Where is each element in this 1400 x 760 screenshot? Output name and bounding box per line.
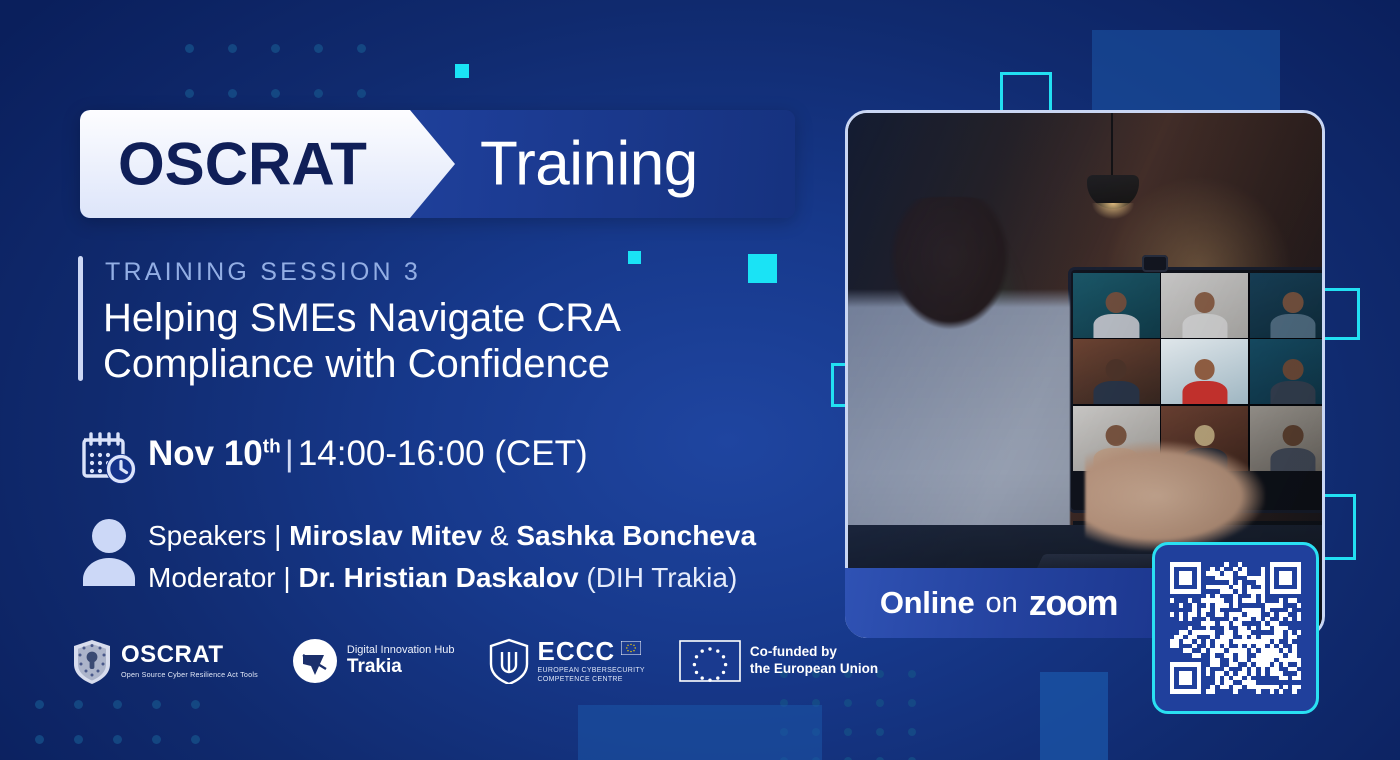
participant-tile [1161,273,1248,338]
person-icon [78,514,140,586]
calendar-clock-icon [78,428,140,486]
dih-trakia-logo: Digital Innovation Hub Trakia [292,638,455,684]
oscrat-logo-name: OSCRAT [121,643,258,667]
qr-code[interactable] [1170,562,1302,694]
header-title: Training [480,129,698,200]
header-lockup: OSCRAT Training [80,110,795,218]
oscrat-logo-tagline: Open Source Cyber Resilience Act Tools [121,670,258,679]
online-on-zoom-bar: Online on zoom [845,568,1152,638]
moderator-label: Moderator [148,562,276,593]
participant-tile [1250,339,1322,404]
decor-bracket-right [1324,288,1360,340]
participant-tile [1073,273,1160,338]
dot-grid-bottom-left [35,700,200,744]
eccc-logo: ECCC EUROPEAN CYBERSECURITY COMPETENCE C… [489,638,645,685]
session-title-line-2: Compliance with Confidence [103,341,743,387]
session-title-line-1: Helping SMEs Navigate CRA [103,295,743,341]
dih-trakia-logo-text: Digital Innovation Hub Trakia [347,644,455,678]
shield-icon [72,638,112,684]
speakers-separator: | [274,520,281,551]
dih-logo-line-2: Trakia [347,656,455,678]
title-accent-bar [78,256,83,381]
speakers-label: Speakers [148,520,266,551]
eccc-logo-text: ECCC EUROPEAN CYBERSECURITY COMPETENCE C… [538,638,645,685]
decor-block-bottom-center [578,705,822,760]
qr-code-card[interactable] [1152,542,1319,714]
session-eyebrow: TRAINING SESSION 3 [105,258,421,287]
header-logo-text: OSCRAT [118,130,367,199]
eu-flag-large-icon [679,640,741,682]
zoom-wordmark: zoom [1029,582,1117,624]
speaker-name-1: Miroslav Mitev [289,520,482,551]
eu-cofunded-line-2: the European Union [750,661,878,678]
oscrat-logo-text: OSCRAT Open Source Cyber Resilience Act … [121,643,258,679]
oscrat-logo: OSCRAT Open Source Cyber Resilience Act … [72,638,258,684]
decor-block-bottom-right [1040,672,1108,760]
moderator-org: (DIH Trakia) [586,562,737,593]
participant-tile [1073,339,1160,404]
participant-tile [1250,273,1322,338]
event-date: Nov 10 [148,434,263,473]
dih-logo-line-1: Digital Innovation Hub [347,644,455,657]
speakers-conjunction: & [490,520,509,551]
event-time: 14:00-16:00 (CET) [298,434,588,473]
eu-cofunded-text: Co-funded by the European Union [750,644,878,678]
page-title: Helping SMEs Navigate CRA Compliance wit… [103,295,743,387]
eu-flag-icon [621,641,641,655]
decor-square-tiny [628,251,641,264]
eccc-logo-sub-2: COMPETENCE CENTRE [538,676,645,685]
lamp-cord [1111,113,1113,179]
webcam-icon [1142,255,1168,272]
on-label: on [986,587,1018,620]
people-block: Speakers | Miroslav Mitev & Sashka Bonch… [148,515,756,599]
speaker-name-2: Sashka Boncheva [516,520,756,551]
decor-square-small [455,64,469,78]
moderator-line: Moderator | Dr. Hristian Daskalov (DIH T… [148,557,756,599]
training-promo-poster: OSCRAT Training TRAINING SESSION 3 Helpi… [0,0,1400,760]
participant-tile-active-speaker [1161,339,1248,404]
moderator-name: Dr. Hristian Daskalov [298,562,578,593]
eccc-logo-name: ECCC [538,638,616,664]
dih-trakia-mark-icon [292,638,338,684]
partner-logos: OSCRAT Open Source Cyber Resilience Act … [72,636,878,686]
event-date-suffix: th [263,436,281,457]
eccc-shield-icon [489,638,529,684]
decor-square-medium [748,254,777,283]
decor-frame-top [1000,72,1052,112]
datetime-separator: | [285,434,294,473]
eccc-logo-sub-1: EUROPEAN CYBERSECURITY [538,667,645,676]
hands [1085,441,1265,551]
speakers-line: Speakers | Miroslav Mitev & Sashka Bonch… [148,515,756,557]
eu-cofunded-logo: Co-funded by the European Union [679,640,878,682]
eu-cofunded-line-1: Co-funded by [750,644,878,661]
moderator-separator: | [283,562,290,593]
online-label: Online [880,585,975,621]
event-datetime: Nov 10th|14:00-16:00 (CET) [148,434,588,474]
